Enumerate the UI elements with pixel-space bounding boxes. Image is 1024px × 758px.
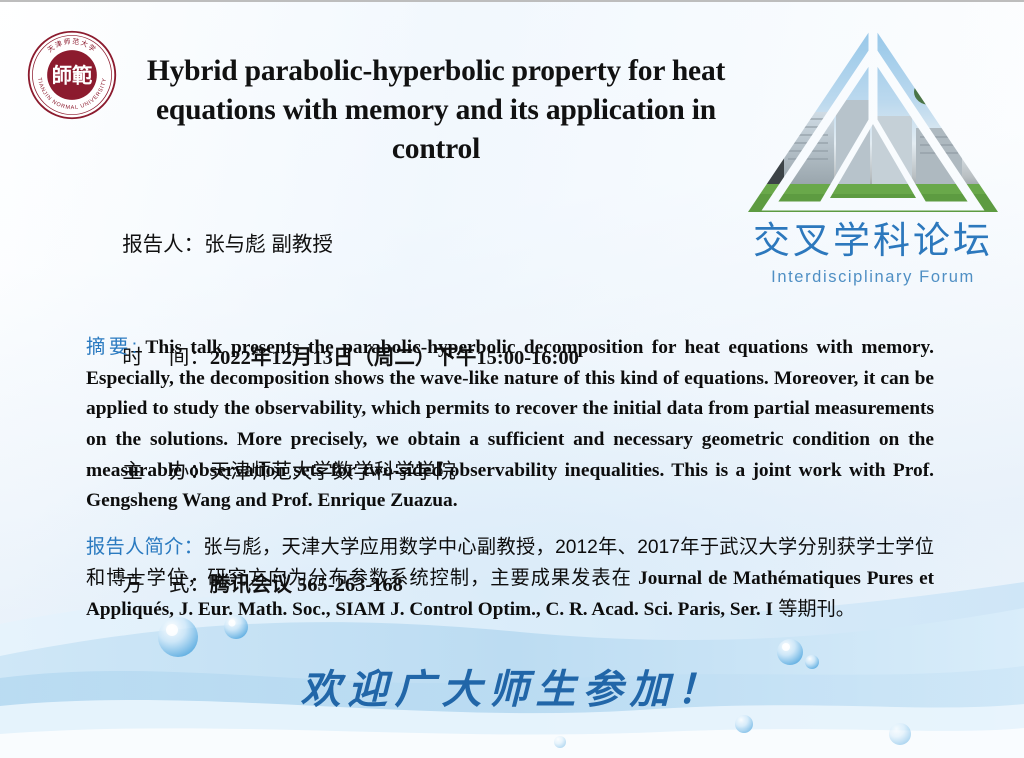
interdisciplinary-forum-logo: 交叉学科论坛 Interdisciplinary Forum [740, 16, 1006, 306]
seminar-poster: 師範 1958 天津师范大学 TIANJIN NORMAL UNIVERSITY [0, 0, 1024, 758]
university-seal-icon: 師範 1958 天津师范大学 TIANJIN NORMAL UNIVERSITY [26, 29, 118, 121]
svg-text:1958: 1958 [67, 93, 78, 98]
info-value-speaker: 张与彪 副教授 [204, 233, 333, 256]
forum-name-en: Interdisciplinary Forum [740, 268, 1006, 287]
abstract-section: 摘要: This talk presents the parabolic-hyp… [86, 332, 934, 517]
bio-label: 报告人简介： [86, 537, 203, 558]
svg-text:師範: 師範 [52, 63, 92, 87]
poster-title: Hybrid parabolic-hyperbolic property for… [126, 52, 746, 170]
abstract-text: This talk presents the parabolic-hyperbo… [86, 337, 934, 511]
bio-section: 报告人简介：张与彪，天津大学应用数学中心副教授，2012年、2017年于武汉大学… [86, 532, 934, 625]
bio-text-cn-2: 等期刊。 [773, 599, 855, 620]
info-label-speaker: 报告人： [122, 233, 204, 256]
abstract-label: 摘要: [86, 336, 137, 358]
info-row-speaker: 报告人：张与彪 副教授 [88, 188, 708, 301]
triangle-campus-mark-icon [740, 16, 1006, 222]
forum-name-cn: 交叉学科论坛 [740, 222, 1006, 261]
welcome-message: 欢迎广大师生参加！ [0, 657, 1024, 715]
